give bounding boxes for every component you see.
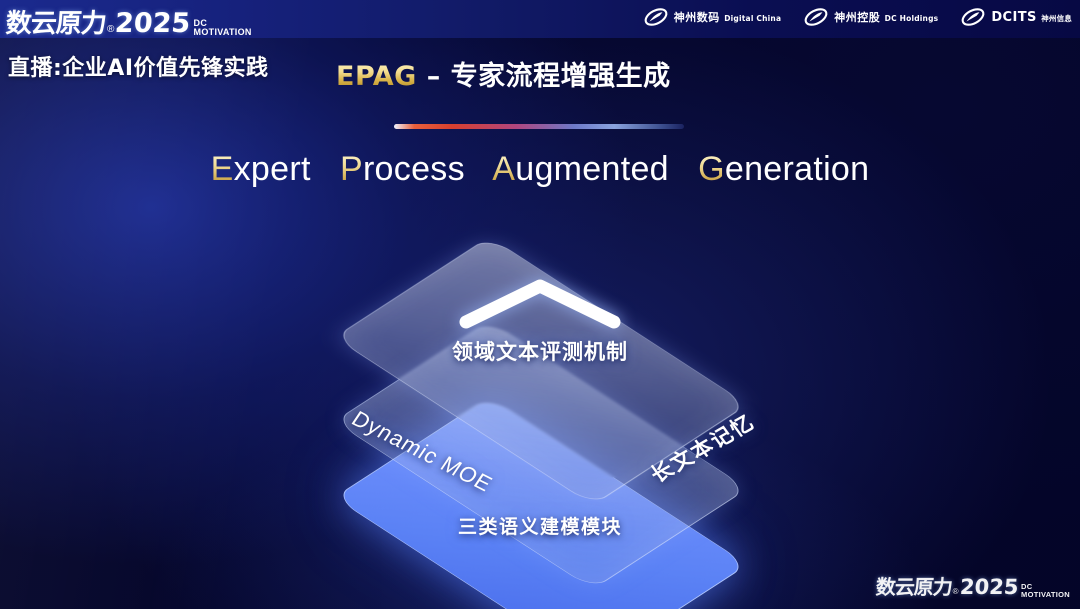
page-title: EPAG – 专家流程增强生成 [336,54,671,93]
epag-acronym: EPAG [336,61,417,92]
brand-watermark-bottom-right: 数云原力 ® 2025 DC MOTIVATION [876,571,1070,603]
swirl-logo-icon [960,4,986,30]
subtitle-rest-generation: eneration [725,150,869,188]
subtitle-space-3 [679,150,689,188]
watermark-registered-icon: ® [953,587,959,596]
subtitle-cap-g: G [698,150,725,188]
subtitle-word-augmented: Augmented [492,150,669,188]
logo-line-cn: 神州信息 [1041,14,1072,23]
gradient-divider [394,124,684,129]
brand-name-cn: 数云原力 [5,3,108,40]
live-session-title: 直播:企业AI价值先锋实践 [8,50,269,82]
subtitle-cap-a: A [492,150,515,188]
watermark-year: 2025 [959,575,1019,599]
partner-logos: 神州数码 Digital China 神州控股 DC Holdings [643,4,1072,30]
brand-motivation-text: MOTIVATION [194,28,252,37]
subtitle-word-process: Process [340,150,465,188]
logo-digital-china: 神州数码 Digital China [643,4,781,30]
watermark-motivation-text: MOTIVATION [1021,591,1070,599]
subtitle-cap-p: P [340,150,363,188]
brand-dc-motivation: DC MOTIVATION [194,19,252,37]
slide-canvas: 数云原力 ® 2025 DC MOTIVATION 神州数码 Digital C… [0,0,1080,609]
logo-line-en: Digital China [724,14,781,23]
epag-subtitle-cn: – 专家流程增强生成 [417,61,671,92]
subtitle-rest-augmented: ugmented [515,150,669,188]
watermark-name-cn: 数云原力 [875,571,953,600]
logo-line-en: DC Holdings [885,14,939,23]
brand-year: 2025 [114,8,191,39]
logo-dc-holdings: 神州控股 DC Holdings [803,4,938,30]
swirl-logo-icon [643,4,669,30]
logo-dcits: DCITS 神州信息 [960,4,1072,30]
logo-dc-holdings-text: 神州控股 DC Holdings [834,9,938,26]
subtitle-rest-expert: xpert [234,150,311,188]
subtitle-space-2 [475,150,485,188]
subtitle-word-generation: Generation [698,150,869,188]
logo-digital-china-text: 神州数码 Digital China [674,9,781,26]
layer-stack-diagram: 领域文本评测机制 Dynamic MOE 长文本记忆 三类语义建模模块 [276,228,804,573]
logo-line-cn: 神州控股 [834,11,880,24]
subtitle-space-1 [320,150,330,188]
logo-line-cn: 神州数码 [674,11,720,24]
watermark-dc-motivation: DC MOTIVATION [1021,583,1070,598]
subtitle-word-expert: Expert [211,150,311,188]
logo-line-en: DCITS [991,10,1036,25]
subtitle-rest-process: rocess [363,150,465,188]
subtitle-cap-e: E [211,150,234,188]
logo-dcits-text: DCITS 神州信息 [991,9,1072,26]
swirl-logo-icon [803,4,829,30]
brand-logo-top-left: 数云原力 ® 2025 DC MOTIVATION [6,3,252,43]
expanded-acronym-subtitle: Expert Process Augmented Generation [0,150,1080,189]
